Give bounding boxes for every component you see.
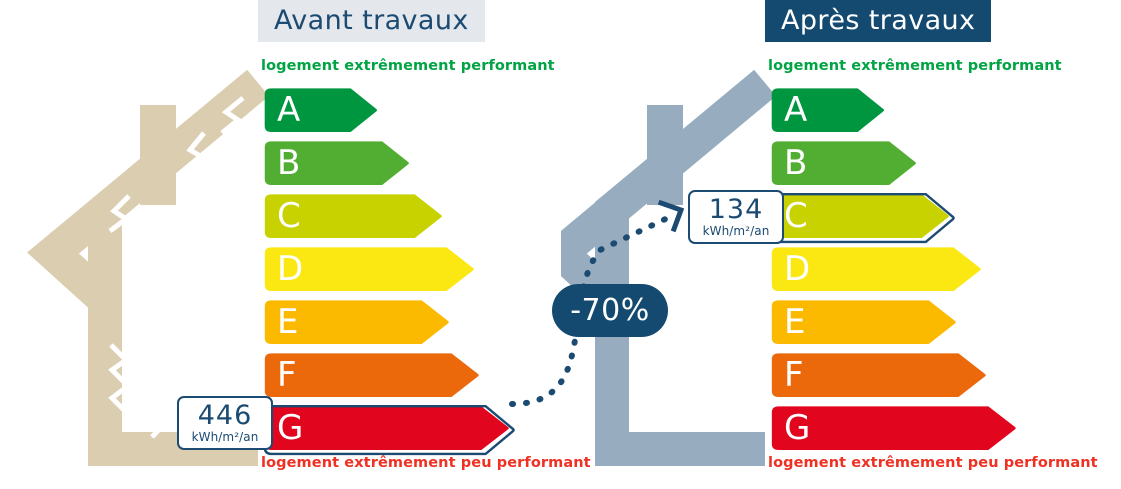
grade-letter: G xyxy=(277,403,304,455)
grade-letter: C xyxy=(277,191,301,243)
energy-value-after: 134 xyxy=(690,196,782,224)
energy-grade-d-after[interactable]: D xyxy=(768,244,988,296)
page-title-before: Avant travaux xyxy=(258,0,485,42)
caption-top-before: logement extrêmement performant xyxy=(261,58,555,74)
energy-grade-b-before[interactable]: B xyxy=(261,138,416,190)
grade-letter: D xyxy=(277,244,304,296)
energy-unit-before: kWh/m²/an xyxy=(179,430,271,445)
energy-unit-after: kWh/m²/an xyxy=(690,224,782,239)
grade-letter: C xyxy=(784,191,808,243)
caption-bottom-after: logement extrêmement peu performant xyxy=(768,455,1098,471)
page-title-after: Après travaux xyxy=(765,0,991,42)
energy-scale-after: A B C D E F G xyxy=(561,85,1121,450)
energy-grade-c-before[interactable]: C xyxy=(261,191,449,243)
caption-bottom-before: logement extrêmement peu performant xyxy=(261,455,591,471)
energy-grade-b-after[interactable]: B xyxy=(768,138,923,190)
grade-letter: E xyxy=(784,297,806,349)
energy-grade-a-before[interactable]: A xyxy=(261,85,384,137)
grade-letter: B xyxy=(784,138,808,190)
grade-letter: D xyxy=(784,244,811,296)
caption-top-after: logement extrêmement performant xyxy=(768,58,1062,74)
grade-letter: B xyxy=(277,138,301,190)
panel-before-works: Avant travaux logement extrêmement perfo… xyxy=(0,0,560,489)
energy-grade-f-before[interactable]: F xyxy=(261,350,486,402)
energy-grade-e-after[interactable]: E xyxy=(768,297,963,349)
energy-grade-c-after[interactable]: C xyxy=(768,191,956,243)
grade-letter: E xyxy=(277,297,299,349)
energy-value-badge-after: 134 kWh/m²/an xyxy=(688,190,784,244)
panel-after-works: Après travaux logement extrêmement perfo… xyxy=(561,0,1121,489)
energy-grade-g-after[interactable]: G xyxy=(768,403,1023,455)
energy-grade-e-before[interactable]: E xyxy=(261,297,456,349)
grade-letter: F xyxy=(277,350,297,402)
energy-value-badge-before: 446 kWh/m²/an xyxy=(177,396,273,450)
energy-grade-g-before[interactable]: G xyxy=(261,403,516,455)
energy-scale-before: A B C D E F G xyxy=(0,85,560,450)
grade-letter: A xyxy=(784,85,808,137)
energy-grade-a-after[interactable]: A xyxy=(768,85,891,137)
energy-grade-d-before[interactable]: D xyxy=(261,244,481,296)
improvement-badge: -70% xyxy=(552,284,668,337)
grade-letter: F xyxy=(784,350,804,402)
energy-grade-f-after[interactable]: F xyxy=(768,350,993,402)
energy-value-before: 446 xyxy=(179,402,271,430)
grade-letter: A xyxy=(277,85,301,137)
grade-letter: G xyxy=(784,403,811,455)
